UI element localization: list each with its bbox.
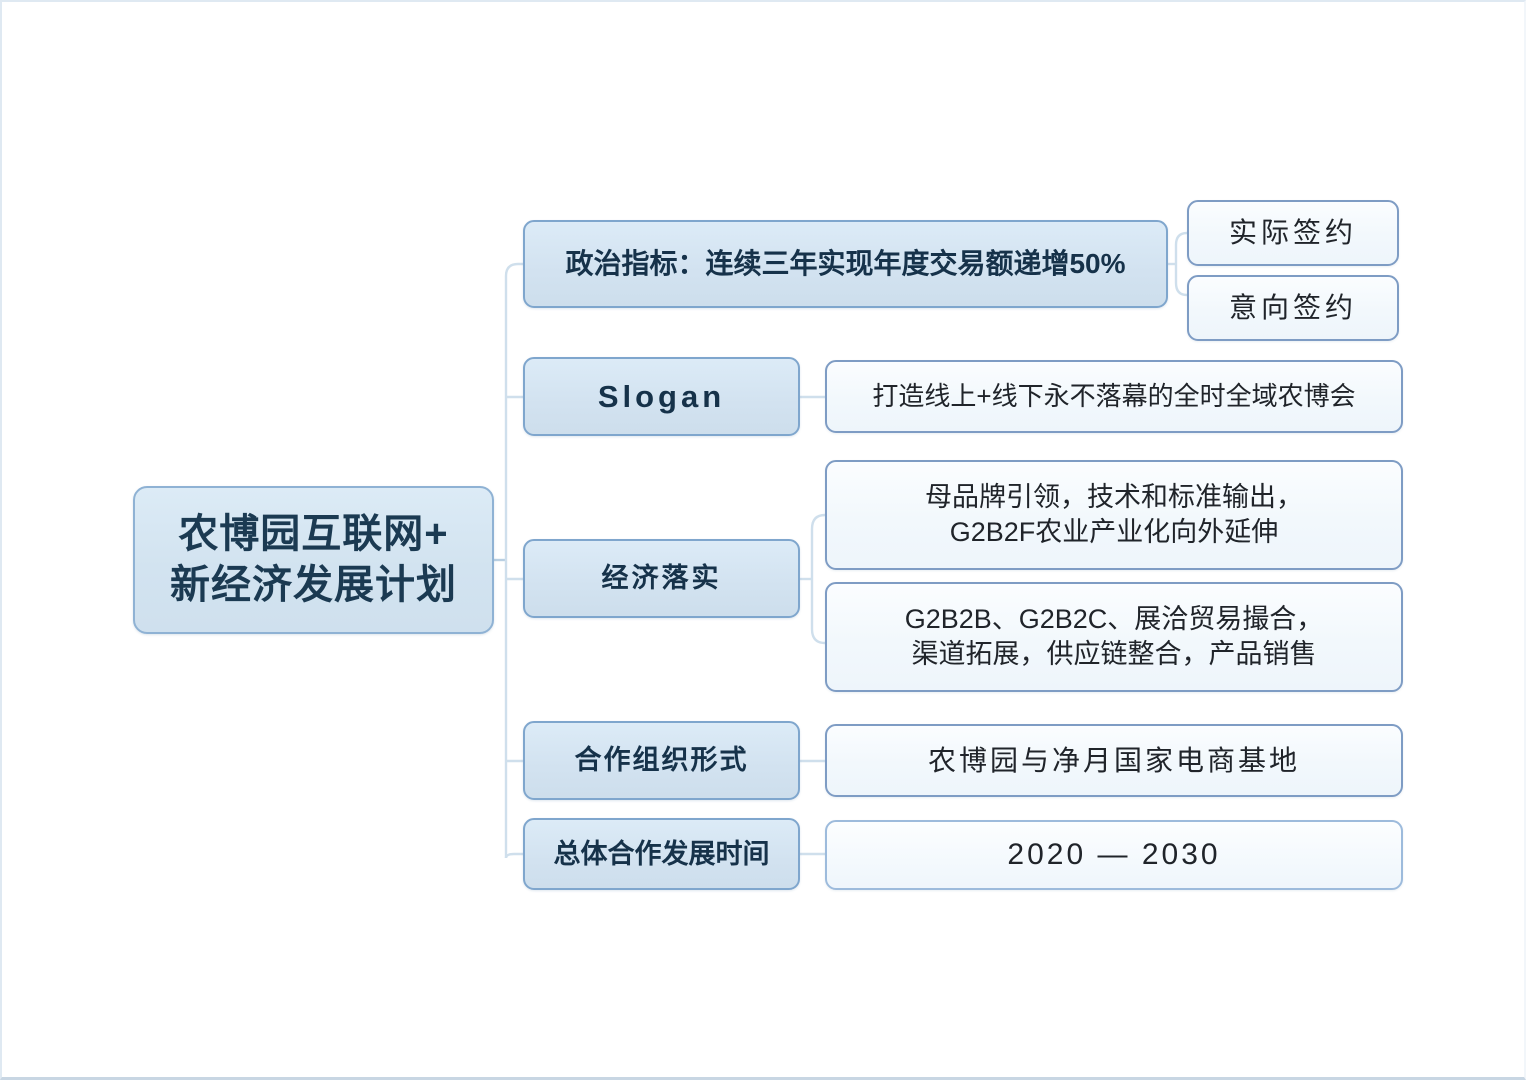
leaf-intent-signing[interactable]: 意向签约	[1187, 275, 1399, 341]
root-label-line2: 新经济发展计划	[170, 560, 457, 611]
leaf-econ-b-line2: 渠道拓展，供应链整合，产品销售	[905, 637, 1324, 672]
root-label-line1: 农博园互联网+	[170, 509, 457, 560]
branch-political-indicator[interactable]: 政治指标：连续三年实现年度交易额递增50%	[523, 220, 1168, 308]
leaf-cooperation-partners[interactable]: 农博园与净月国家电商基地	[825, 724, 1403, 797]
leaf-cooperation-years[interactable]: 2020 — 2030	[825, 820, 1403, 890]
leaf-econ-a-line2: G2B2F农业产业化向外延伸	[925, 515, 1303, 550]
branch-slogan[interactable]: Slogan	[523, 357, 800, 436]
branch-economic-implementation[interactable]: 经济落实	[523, 539, 800, 618]
leaf-econ-a-line1: 母品牌引领，技术和标准输出，	[925, 480, 1303, 515]
branch-cooperation-form[interactable]: 合作组织形式	[523, 721, 800, 800]
mindmap-canvas: 农博园互联网+ 新经济发展计划 政治指标：连续三年实现年度交易额递增50% 实际…	[0, 0, 1526, 1080]
leaf-econ-b-line1: G2B2B、G2B2C、展洽贸易撮合，	[905, 602, 1324, 637]
leaf-economic-trade-channels[interactable]: G2B2B、G2B2C、展洽贸易撮合， 渠道拓展，供应链整合，产品销售	[825, 582, 1403, 692]
leaf-economic-brand-export[interactable]: 母品牌引领，技术和标准输出， G2B2F农业产业化向外延伸	[825, 460, 1403, 570]
leaf-actual-signing[interactable]: 实际签约	[1187, 200, 1399, 266]
leaf-slogan-text[interactable]: 打造线上+线下永不落幕的全时全域农博会	[825, 360, 1403, 433]
root-node[interactable]: 农博园互联网+ 新经济发展计划	[133, 486, 494, 634]
branch-cooperation-period[interactable]: 总体合作发展时间	[523, 818, 800, 890]
